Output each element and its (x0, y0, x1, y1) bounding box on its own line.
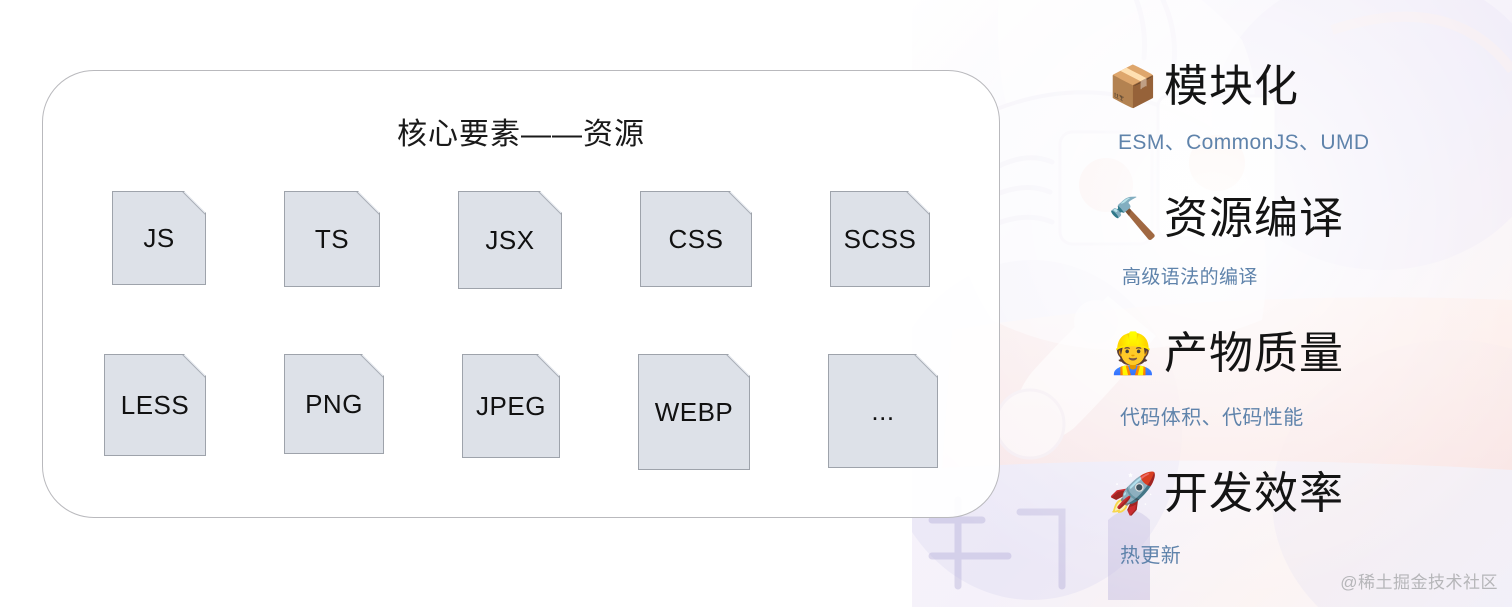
file-card[interactable]: SCSS (830, 191, 930, 287)
slide-canvas: 核心要素——资源 JS TS JSX CSS SCSS LESS PNG (0, 0, 1512, 607)
file-card[interactable]: PNG (284, 354, 384, 454)
file-card-label: PNG (305, 391, 363, 417)
feature-subtitle: ESM、CommonJS、UMD (1118, 126, 1512, 156)
file-card[interactable]: JSX (458, 191, 562, 289)
file-card[interactable]: ... (828, 354, 938, 468)
feature-subtitle: 热更新 (1120, 539, 1512, 568)
file-card-label: CSS (669, 226, 724, 252)
file-card[interactable]: CSS (640, 191, 752, 287)
file-card-row-2: LESS PNG JPEG WEBP ... (43, 354, 999, 470)
file-card-label: ... (871, 398, 894, 424)
file-card[interactable]: JPEG (462, 354, 560, 458)
rocket-icon: 🚀 (1108, 474, 1154, 514)
file-card-label: JS (143, 225, 174, 251)
feature-title: 资源编译 (1164, 196, 1344, 242)
file-card-label: WEBP (655, 399, 734, 425)
feature-subtitle: 代码体积、代码性能 (1120, 401, 1512, 430)
file-card[interactable]: LESS (104, 354, 206, 456)
file-card-label: LESS (121, 392, 190, 418)
file-card-label: SCSS (844, 226, 917, 252)
feature-heading: 📦 模块化 (1108, 58, 1512, 116)
feature-item-modularization: 📦 模块化 ESM、CommonJS、UMD (1108, 58, 1512, 156)
file-card[interactable]: TS (284, 191, 380, 287)
hammer-icon: 🔨 (1108, 199, 1154, 239)
feature-list: 📦 模块化 ESM、CommonJS、UMD 🔨 资源编译 高级语法的编译 👷 … (1108, 0, 1512, 607)
panel-title: 核心要素——资源 (43, 109, 999, 153)
watermark: @稀土掘金技术社区 (1340, 568, 1498, 593)
feature-title: 产物质量 (1164, 331, 1344, 377)
feature-item-asset-compilation: 🔨 资源编译 高级语法的编译 (1108, 190, 1512, 289)
feature-item-output-quality: 👷 产物质量 代码体积、代码性能 (1108, 325, 1512, 430)
file-card-row-1: JS TS JSX CSS SCSS (43, 191, 999, 289)
feature-subtitle: 高级语法的编译 (1122, 262, 1512, 289)
file-card[interactable]: JS (112, 191, 206, 285)
feature-heading: 🚀 开发效率 (1108, 465, 1512, 523)
file-card[interactable]: WEBP (638, 354, 750, 470)
feature-heading: 👷 产物质量 (1108, 325, 1512, 383)
file-card-label: JPEG (476, 393, 546, 419)
construction-worker-icon: 👷 (1108, 334, 1154, 374)
feature-heading: 🔨 资源编译 (1108, 190, 1512, 248)
package-box-icon: 📦 (1108, 67, 1154, 107)
feature-title: 模块化 (1164, 64, 1299, 110)
feature-item-dev-efficiency: 🚀 开发效率 热更新 (1108, 465, 1512, 568)
feature-title: 开发效率 (1164, 471, 1344, 517)
file-card-label: JSX (485, 227, 534, 253)
file-card-label: TS (315, 226, 349, 252)
resource-panel: 核心要素——资源 JS TS JSX CSS SCSS LESS PNG (42, 70, 1000, 518)
